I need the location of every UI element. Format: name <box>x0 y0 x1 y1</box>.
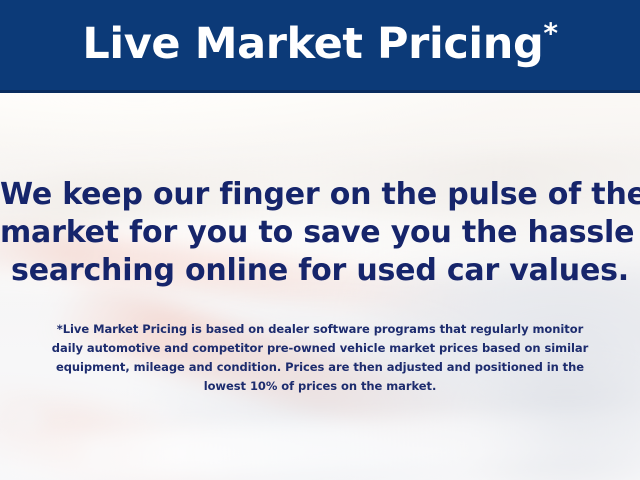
page-title: Live Market Pricing* <box>82 23 557 68</box>
page-title-text: Live Market Pricing <box>82 19 543 69</box>
disclaimer-line-2: daily automotive and competitor pre-owne… <box>0 339 640 358</box>
headline-line-1: We keep our finger on the pulse of the <box>0 176 640 214</box>
headline: We keep our finger on the pulse of the m… <box>0 176 640 290</box>
disclaimer-line-3: equipment, mileage and condition. Prices… <box>0 358 640 377</box>
header-band: Live Market Pricing* <box>0 0 640 93</box>
disclaimer-line-1: *Live Market Pricing is based on dealer … <box>0 320 640 339</box>
headline-line-3: searching online for used car values. <box>0 252 640 290</box>
page-title-asterisk: * <box>543 16 557 49</box>
disclaimer: *Live Market Pricing is based on dealer … <box>0 320 640 396</box>
promotional-banner: Live Market Pricing* We keep our finger … <box>0 0 640 480</box>
disclaimer-line-4: lowest 10% of prices on the market. <box>0 377 640 396</box>
headline-line-2: market for you to save you the hassle of <box>0 214 640 252</box>
